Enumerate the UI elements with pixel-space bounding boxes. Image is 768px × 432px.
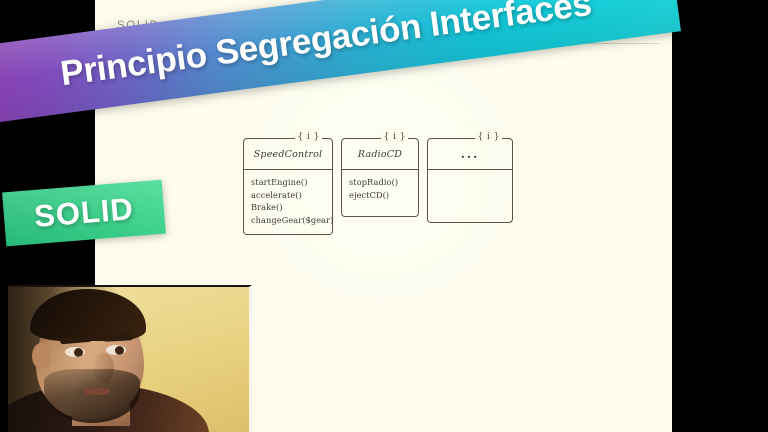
presenter-webcam-overlay (8, 285, 252, 432)
uml-box-title: RadioCD (342, 139, 418, 170)
presenter-ear (32, 343, 50, 369)
uml-method-list: startEngine() accelerate() Brake() chang… (244, 170, 332, 234)
uml-box-radiocd: { i } RadioCD stopRadio() ejectCD() (341, 138, 419, 217)
solid-badge-text: SOLID (33, 191, 135, 235)
interface-stereotype-icon: { i } (381, 132, 408, 142)
uml-interface-diagram: { i } SpeedControl startEngine() acceler… (243, 138, 513, 235)
uml-method-list (428, 170, 512, 222)
presenter-iris-right (115, 346, 124, 355)
presenter-eye-left (65, 347, 85, 357)
uml-box-title: SpeedControl (244, 139, 332, 170)
interface-stereotype-icon: { i } (475, 132, 502, 142)
uml-box-title: ... (428, 139, 512, 170)
uml-method: stopRadio() (349, 176, 412, 189)
uml-method: Brake() (251, 201, 326, 214)
interface-stereotype-icon: { i } (295, 132, 322, 142)
uml-method: ejectCD() (349, 189, 412, 202)
uml-method: startEngine() (251, 176, 326, 189)
video-frame: SOLID > ISP > POSIBLE SOLUCIÓN { i } Spe… (0, 0, 768, 432)
uml-method: accelerate() (251, 189, 326, 202)
presenter-mouth (84, 388, 110, 395)
uml-method: changeGear($gear) (251, 214, 326, 227)
uml-method-list: stopRadio() ejectCD() (342, 170, 418, 216)
uml-box-speedcontrol: { i } SpeedControl startEngine() acceler… (243, 138, 333, 235)
presenter-eye-right (106, 345, 126, 355)
uml-box-ellipsis: { i } ... (427, 138, 513, 223)
presenter-iris-left (74, 348, 83, 357)
